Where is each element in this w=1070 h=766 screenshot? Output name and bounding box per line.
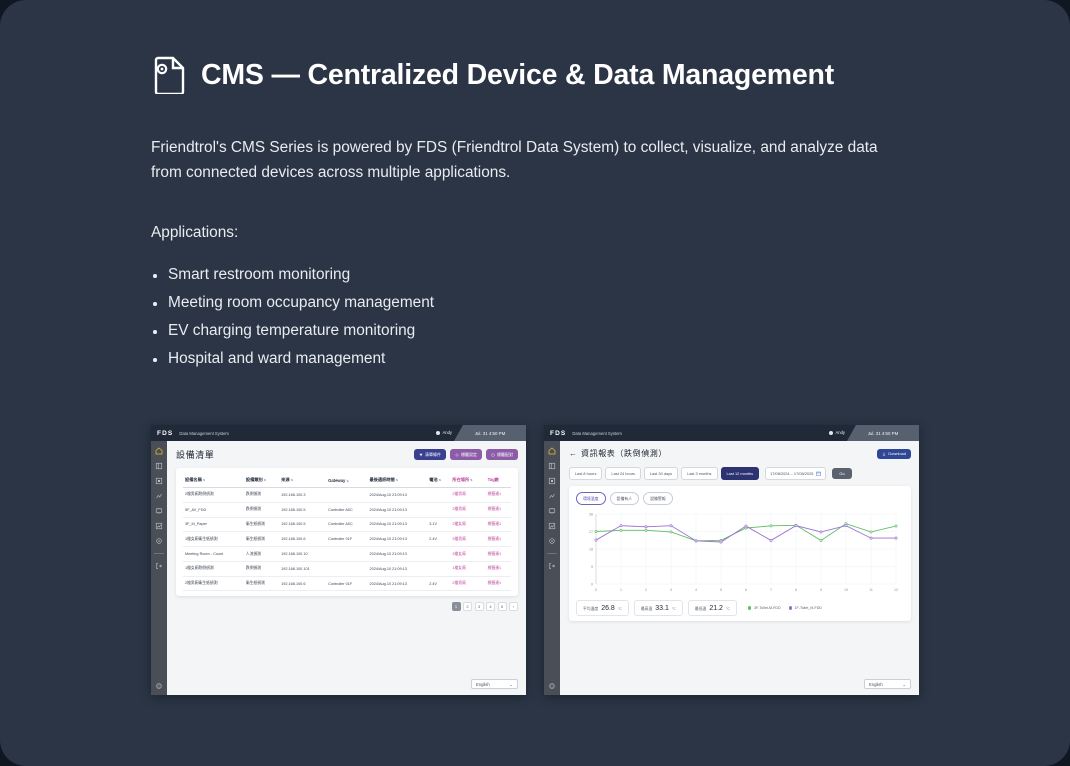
svg-text:9: 9: [591, 565, 593, 569]
column-header[interactable]: 最後通訊時間⇅: [368, 473, 428, 488]
app-main-left: 設備清單 清單條件: [167, 441, 526, 695]
user-menu[interactable]: Andy: [829, 430, 845, 435]
user-icon: [436, 431, 440, 435]
stat-box: 最低溫21.2°C: [688, 600, 737, 616]
svg-text:6: 6: [745, 588, 747, 592]
clock-display: Jul. 31 4:50 PM: [454, 425, 526, 441]
svg-text:11: 11: [869, 588, 873, 592]
page-button[interactable]: 5: [498, 602, 507, 611]
globe-icon[interactable]: [548, 682, 556, 690]
cell-location: 2樓男廁: [450, 502, 485, 517]
cell-source: 192.168.100.3: [279, 488, 326, 503]
tag-pairing-label: 標籤配對: [497, 452, 513, 458]
cell-tags: 標籤連1: [486, 502, 511, 517]
cell-type: 人流偵測: [244, 547, 279, 562]
chart-card: 環境溫度設備有人設備警報 362718900123456789101112 平均…: [569, 486, 911, 621]
cell-last-comm: 2024/Aug.10 21:09:13: [368, 561, 428, 576]
cell-gateway: [326, 547, 367, 562]
sort-icon: ⇅: [203, 478, 206, 482]
range-button[interactable]: Last 30 days: [644, 467, 678, 480]
chart-legend: 3F-Toilet-M-FDD1F-Toilet_M-FDD: [748, 606, 822, 610]
sidebar-right: ›: [544, 441, 560, 695]
logout-icon[interactable]: [155, 562, 163, 570]
language-value: English: [869, 682, 883, 687]
title-with-back: ← 資訊報表（跌倒偵測）: [569, 448, 667, 459]
cell-location: 2樓男廁: [450, 576, 485, 591]
cell-name: 1樓女廁跌倒偵測: [183, 561, 244, 576]
slide-content: CMS — Centralized Device & Data Manageme…: [151, 56, 951, 373]
stat-value: 21.2: [709, 605, 723, 612]
stat-unit: °C: [672, 607, 676, 611]
sort-icon: ⇅: [264, 478, 267, 482]
cell-last-comm: 2024/Aug.10 21:09:13: [368, 502, 428, 517]
sort-icon: ⇅: [470, 478, 473, 482]
cell-battery: [427, 561, 450, 576]
table-row[interactable]: 2樓男廁衛生紙偵測 衛生紙偵測 192.168.100.6 Controller…: [183, 576, 511, 591]
screenshot-device-list: FDS Data Management System Andy Jul. 31 …: [151, 425, 526, 695]
svg-text:10: 10: [844, 588, 848, 592]
cell-source: 192.168.100.5: [279, 502, 326, 517]
cell-gateway: Controller A0C: [326, 502, 367, 517]
svg-text:8: 8: [795, 588, 797, 592]
cell-last-comm: 2024/Aug.10 21:09:13: [368, 488, 428, 503]
svg-text:3: 3: [670, 588, 672, 592]
svg-text:4: 4: [695, 588, 697, 592]
cell-type: 跌倒偵測: [244, 561, 279, 576]
stat-box: 最高溫33.1°C: [634, 600, 683, 616]
date-range-input[interactable]: 17/08/2024 – 17/08/2025: [765, 467, 826, 480]
cell-gateway: Controller 01F: [326, 576, 367, 591]
cell-gateway: [326, 488, 367, 503]
applications-label: Applications:: [151, 224, 951, 242]
cell-battery: [427, 502, 450, 517]
cell-location: 3樓女廁: [450, 547, 485, 562]
page-button[interactable]: 2: [463, 602, 472, 611]
cell-source: 192.168.100.10: [279, 547, 326, 562]
table-row[interactable]: 3F_M_Paper 衛生紙偵測 192.168.100.5 Controlle…: [183, 517, 511, 532]
filter-conditions-button[interactable]: 清單條件: [414, 449, 446, 460]
cell-source: 192.168.100.5: [279, 517, 326, 532]
tag-settings-label: 標籤設定: [461, 452, 477, 458]
chevron-down-icon: ⌄: [902, 682, 906, 687]
report-icon[interactable]: [155, 522, 163, 530]
metric-chip[interactable]: 設備警報: [643, 492, 673, 505]
page-button[interactable]: 4: [486, 602, 495, 611]
language-value: English: [476, 682, 490, 687]
sidebar-left: ›: [151, 441, 167, 695]
user-menu[interactable]: Andy: [436, 430, 452, 435]
device-icon[interactable]: [155, 477, 163, 485]
logout-icon[interactable]: [548, 562, 556, 570]
svg-text:5: 5: [720, 588, 722, 592]
sort-icon: ⇅: [396, 478, 399, 482]
table-row[interactable]: 2樓男廁跌倒偵測 跌倒偵測 192.168.100.3 2024/Aug.10 …: [183, 488, 511, 503]
clock-display: Jul. 31 4:50 PM: [847, 425, 919, 441]
app-subtitle: Data Management System: [179, 431, 229, 436]
cell-battery: [427, 547, 450, 562]
cell-last-comm: 2024/Aug.10 21:09:13: [368, 547, 428, 562]
column-header[interactable]: 設備類別⇅: [244, 473, 279, 488]
cell-gateway: Controller 01F: [326, 532, 367, 547]
tag-pairing-button[interactable]: 標籤配對: [486, 449, 518, 460]
page-header-left: 設備清單 清單條件: [176, 448, 518, 461]
column-header[interactable]: 設備名稱⇅: [183, 473, 244, 488]
action-button-row: 清單條件 標籤設定: [414, 449, 518, 460]
table-header-row: 設備名稱⇅設備類別⇅來源⇅Gateway⇅最後通訊時間⇅電池⇅所在場所⇅Tag數: [183, 473, 511, 488]
cell-type: 衛生紙偵測: [244, 576, 279, 591]
cell-location: 3樓男廁: [450, 532, 485, 547]
cell-last-comm: 2024/Aug.10 21:09:13: [368, 532, 428, 547]
cell-name: 2樓男廁跌倒偵測: [183, 488, 244, 503]
svg-text:9: 9: [820, 588, 822, 592]
intro-paragraph: Friendtrol's CMS Series is powered by FD…: [151, 136, 891, 185]
language-select-right[interactable]: English ⌄: [864, 679, 911, 689]
page-button[interactable]: 3: [475, 602, 484, 611]
svg-text:12: 12: [894, 588, 898, 592]
download-icon: [882, 452, 886, 456]
cell-name: Meeting Room - Count: [183, 547, 244, 562]
sort-icon: ⇅: [346, 479, 349, 483]
document-gear-icon: [151, 56, 185, 94]
analytics-icon[interactable]: [155, 492, 163, 500]
device-table-body: 2樓男廁跌倒偵測 跌倒偵測 192.168.100.3 2024/Aug.10 …: [183, 488, 511, 591]
range-button[interactable]: Last 24 hours: [605, 467, 641, 480]
cell-last-comm: 2024/Aug.10 21:09:13: [368, 517, 428, 532]
stat-label: 平均溫度: [583, 607, 598, 612]
screenshot-gallery: FDS Data Management System Andy Jul. 31 …: [151, 425, 919, 695]
metric-chip[interactable]: 設備有人: [610, 492, 640, 505]
sidebar-divider: [154, 553, 164, 554]
stats-and-legend: 平均溫度26.8°C最高溫33.1°C最低溫21.2°C 3F-Toilet-M…: [576, 600, 904, 616]
svg-text:7: 7: [770, 588, 772, 592]
app-topbar-left: FDS Data Management System Andy Jul. 31 …: [151, 425, 526, 441]
list-icon[interactable]: [155, 462, 163, 470]
language-selector-wrap-right: English ⌄: [864, 679, 911, 689]
chevron-down-icon: ⌄: [509, 682, 513, 687]
cell-tags: 標籤連1: [486, 532, 511, 547]
table-row[interactable]: 5F_AV_FDD 跌倒偵測 192.168.100.5 Controller …: [183, 502, 511, 517]
sort-icon: ⇅: [291, 478, 294, 482]
column-header[interactable]: 所在場所⇅: [450, 473, 485, 488]
legend-label: 3F-Toilet-M-FDD: [754, 606, 781, 610]
message-icon[interactable]: [548, 507, 556, 515]
stat-unit: °C: [618, 607, 622, 611]
home-icon[interactable]: [548, 447, 556, 455]
metric-chips: 環境溫度設備有人設備警報: [576, 492, 904, 505]
cell-tags: 標籤連1: [486, 576, 511, 591]
slide-root: CMS — Centralized Device & Data Manageme…: [0, 0, 1070, 766]
cell-tags: 標籤連1: [486, 517, 511, 532]
cell-location: 1樓女廁: [450, 561, 485, 576]
svg-text:0: 0: [595, 588, 597, 592]
globe-icon[interactable]: [155, 682, 163, 690]
app-body-right: › ← 資訊報表（跌倒偵測） Download: [544, 441, 919, 695]
filter-icon: [419, 453, 423, 457]
screenshot-report-chart: FDS Data Management System Andy Jul. 31 …: [544, 425, 919, 695]
cell-battery: 2.4V: [427, 532, 450, 547]
column-header[interactable]: Gateway⇅: [326, 473, 367, 488]
line-chart: 362718900123456789101112: [576, 510, 904, 596]
date-range-value: 17/08/2024 – 17/08/2025: [770, 471, 813, 476]
user-name: Andy: [442, 430, 452, 435]
fds-logo: FDS: [550, 430, 566, 437]
go-button[interactable]: Go: [832, 468, 851, 479]
stat-boxes: 平均溫度26.8°C最高溫33.1°C最低溫21.2°C: [576, 600, 737, 616]
list-item: EV charging temperature monitoring: [151, 317, 951, 345]
cell-type: 衛生紙偵測: [244, 532, 279, 547]
column-header[interactable]: Tag數: [486, 473, 511, 488]
column-header[interactable]: 來源⇅: [279, 473, 326, 488]
cell-name: 5F_AV_FDD: [183, 502, 244, 517]
cell-source: 192.168.100.6: [279, 532, 326, 547]
next-page-button[interactable]: ›: [509, 602, 518, 611]
device-table-head: 設備名稱⇅設備類別⇅來源⇅Gateway⇅最後通訊時間⇅電池⇅所在場所⇅Tag數: [183, 473, 511, 488]
legend-item[interactable]: 3F-Toilet-M-FDD: [748, 606, 781, 610]
list-item: Meeting room occupancy management: [151, 289, 951, 317]
legend-color-dot: [789, 606, 793, 610]
settings-icon[interactable]: [155, 537, 163, 545]
cell-source: 192.168.100.6: [279, 576, 326, 591]
table-row[interactable]: 1樓女廁衛生紙偵測 衛生紙偵測 192.168.100.6 Controller…: [183, 532, 511, 547]
applications-list: Smart restroom monitoring Meeting room o…: [151, 261, 951, 373]
download-label: Download: [888, 451, 906, 456]
legend-label: 1F-Toilet_M-FDD: [795, 606, 822, 610]
page-title-report: 資訊報表（跌倒偵測）: [581, 448, 667, 459]
table-row[interactable]: Meeting Room - Count 人流偵測 192.168.100.10…: [183, 547, 511, 562]
date-range-controls: Last 8 hoursLast 24 hoursLast 30 daysLas…: [569, 467, 911, 480]
svg-text:36: 36: [589, 513, 593, 517]
message-icon[interactable]: [155, 507, 163, 515]
stat-value: 26.8: [601, 605, 615, 612]
stat-label: 最高溫: [641, 607, 652, 612]
cell-battery: 2.4V: [427, 576, 450, 591]
stat-box: 平均溫度26.8°C: [576, 600, 629, 616]
cell-location: 2樓女廁: [450, 517, 485, 532]
range-button[interactable]: Last 3 months: [681, 467, 717, 480]
page-header-right: ← 資訊報表（跌倒偵測） Download: [569, 448, 911, 459]
range-button[interactable]: Last 12 months: [721, 467, 760, 480]
fds-logo: FDS: [157, 430, 173, 437]
device-icon[interactable]: [548, 477, 556, 485]
link-icon: [491, 453, 495, 457]
analytics-icon[interactable]: [548, 492, 556, 500]
cell-tags: 標籤連1: [486, 488, 511, 503]
metric-chip[interactable]: 環境溫度: [576, 492, 606, 505]
calendar-icon: [816, 471, 821, 476]
report-icon[interactable]: [548, 522, 556, 530]
language-selector-wrap-left: English ⌄: [471, 679, 518, 689]
download-button[interactable]: Download: [877, 449, 911, 459]
cell-last-comm: 2024/Aug.10 21:09:13: [368, 576, 428, 591]
stat-label: 最低溫: [695, 607, 706, 612]
cell-battery: 3.1V: [427, 517, 450, 532]
stat-value: 33.1: [655, 605, 669, 612]
device-table-card: 設備名稱⇅設備類別⇅來源⇅Gateway⇅最後通訊時間⇅電池⇅所在場所⇅Tag數…: [176, 468, 518, 596]
user-icon: [829, 431, 833, 435]
tag-settings-button[interactable]: 標籤設定: [450, 449, 482, 460]
user-name: Andy: [835, 430, 845, 435]
cell-type: 衛生紙偵測: [244, 517, 279, 532]
cell-location: 2樓男廁: [450, 488, 485, 503]
filter-conditions-label: 清單條件: [425, 452, 441, 458]
sort-icon: ⇅: [439, 478, 442, 482]
cell-tags: 標籤連1: [486, 547, 511, 562]
app-subtitle: Data Management System: [572, 431, 622, 436]
cell-source: 192.168.100.101: [279, 561, 326, 576]
list-item: Smart restroom monitoring: [151, 261, 951, 289]
sidebar-divider: [547, 553, 557, 554]
svg-text:1: 1: [620, 588, 622, 592]
svg-text:18: 18: [589, 548, 593, 552]
cell-name: 2樓男廁衛生紙偵測: [183, 576, 244, 591]
chart-svg: 362718900123456789101112: [576, 510, 904, 596]
list-item: Hospital and ward management: [151, 345, 951, 373]
title-row: CMS — Centralized Device & Data Manageme…: [151, 56, 951, 94]
app-body-left: › 設備清單 清單條件: [151, 441, 526, 695]
svg-text:27: 27: [589, 530, 593, 534]
cell-gateway: Controller A0C: [326, 517, 367, 532]
cell-type: 跌倒偵測: [244, 502, 279, 517]
column-header[interactable]: 電池⇅: [427, 473, 450, 488]
cell-tags: 標籤連1: [486, 561, 511, 576]
legend-color-dot: [748, 606, 752, 610]
cell-name: 1樓女廁衛生紙偵測: [183, 532, 244, 547]
list-icon[interactable]: [548, 462, 556, 470]
page-title-device-list: 設備清單: [176, 448, 214, 461]
svg-text:0: 0: [591, 583, 593, 587]
settings-icon[interactable]: [548, 537, 556, 545]
device-table: 設備名稱⇅設備類別⇅來源⇅Gateway⇅最後通訊時間⇅電池⇅所在場所⇅Tag數…: [183, 473, 511, 591]
legend-item[interactable]: 1F-Toilet_M-FDD: [789, 606, 822, 610]
cell-gateway: [326, 561, 367, 576]
stat-unit: °C: [726, 607, 730, 611]
page-title: CMS — Centralized Device & Data Manageme…: [201, 59, 834, 92]
svg-text:2: 2: [645, 588, 647, 592]
app-main-right: ← 資訊報表（跌倒偵測） Download Last 8 hoursLast 2…: [560, 441, 919, 695]
page-button[interactable]: 1: [452, 602, 461, 611]
cell-type: 跌倒偵測: [244, 488, 279, 503]
home-icon[interactable]: [155, 447, 163, 455]
tag-icon: [455, 453, 459, 457]
cell-name: 3F_M_Paper: [183, 517, 244, 532]
range-button[interactable]: Last 8 hours: [569, 467, 602, 480]
cell-battery: [427, 488, 450, 503]
app-topbar-right: FDS Data Management System Andy Jul. 31 …: [544, 425, 919, 441]
language-select-left[interactable]: English ⌄: [471, 679, 518, 689]
back-arrow-icon[interactable]: ←: [569, 449, 577, 458]
pagination: 12345›: [176, 602, 518, 611]
table-row[interactable]: 1樓女廁跌倒偵測 跌倒偵測 192.168.100.101 2024/Aug.1…: [183, 561, 511, 576]
